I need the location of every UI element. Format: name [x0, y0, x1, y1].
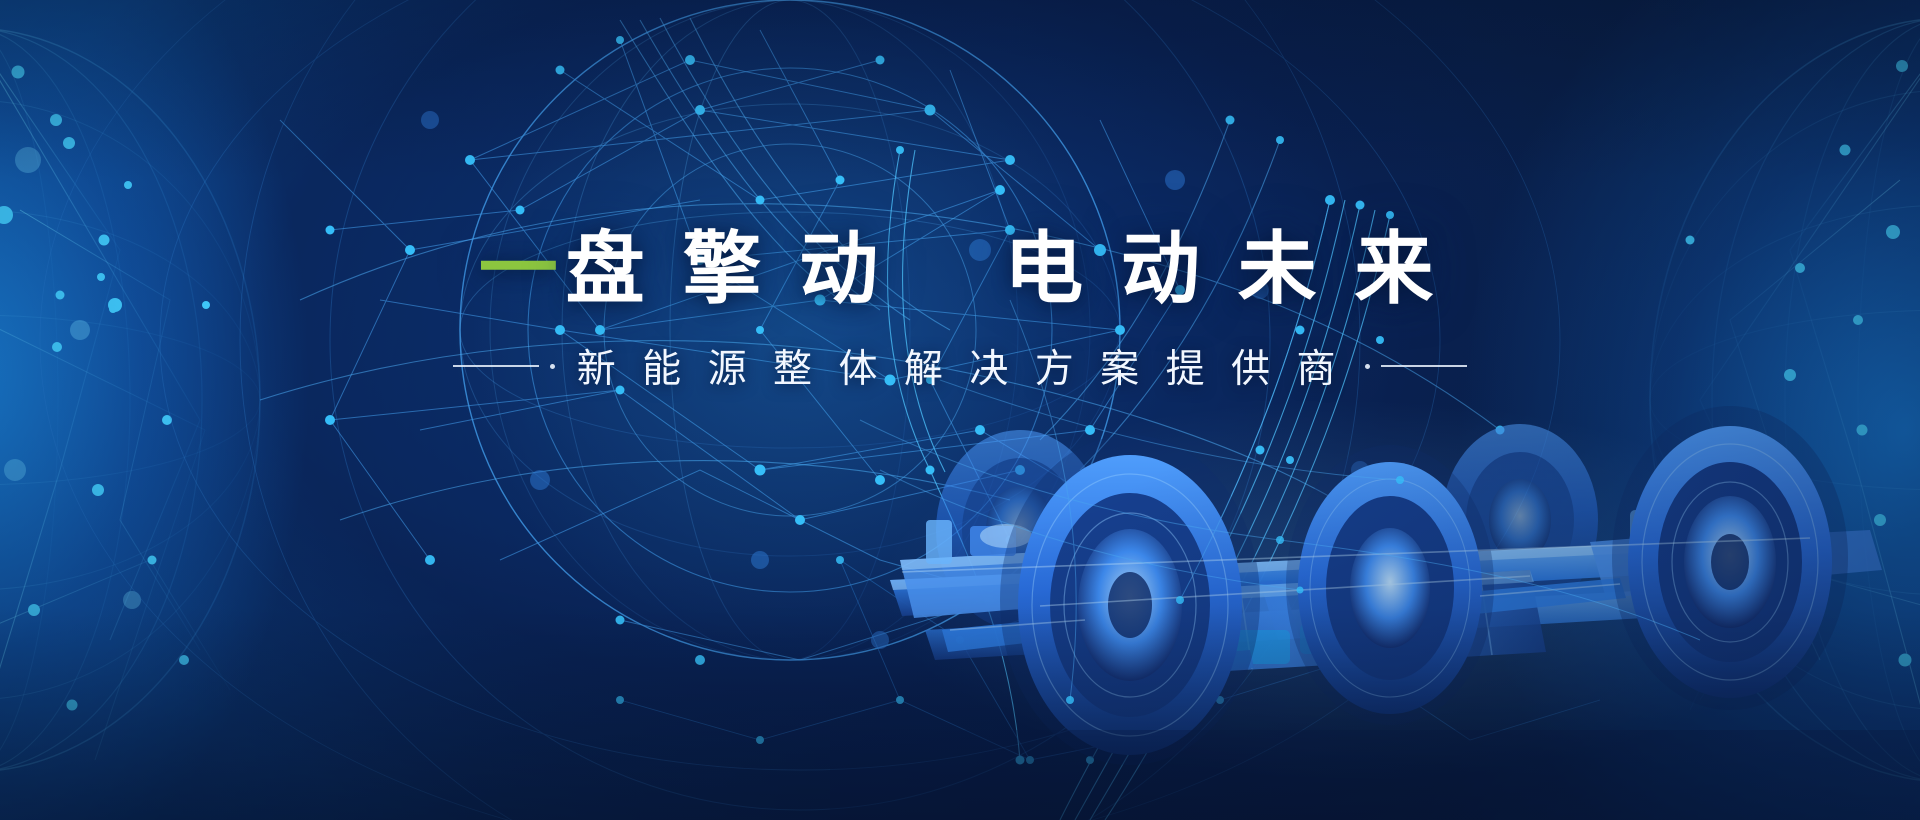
decor-dot-right [1365, 364, 1370, 369]
decor-dash-left [453, 365, 539, 367]
headline-accent-char: 一 [479, 228, 566, 310]
decor-dash-right [1381, 365, 1467, 367]
decor-dot-left [550, 364, 555, 369]
banner-stage: 一 盘 擎 动 电 动 未 来 新 能 源 整 体 解 决 方 案 提 供 商 [0, 0, 1920, 820]
headline-part-two: 电 动 未 来 [1004, 228, 1441, 310]
subtitle-decor-right [1365, 364, 1467, 369]
subtitle-row: 新 能 源 整 体 解 决 方 案 提 供 商 [0, 338, 1920, 394]
headline: 一 盘 擎 动 电 动 未 来 [0, 228, 1920, 310]
network-foreground [0, 0, 1920, 820]
subtitle-text: 新 能 源 整 体 解 决 方 案 提 供 商 [577, 338, 1344, 394]
subtitle-decor-left [453, 364, 555, 369]
banner-copy: 一 盘 擎 动 电 动 未 来 新 能 源 整 体 解 决 方 案 提 供 商 [0, 228, 1920, 394]
headline-part-one: 盘 擎 动 [566, 228, 886, 310]
